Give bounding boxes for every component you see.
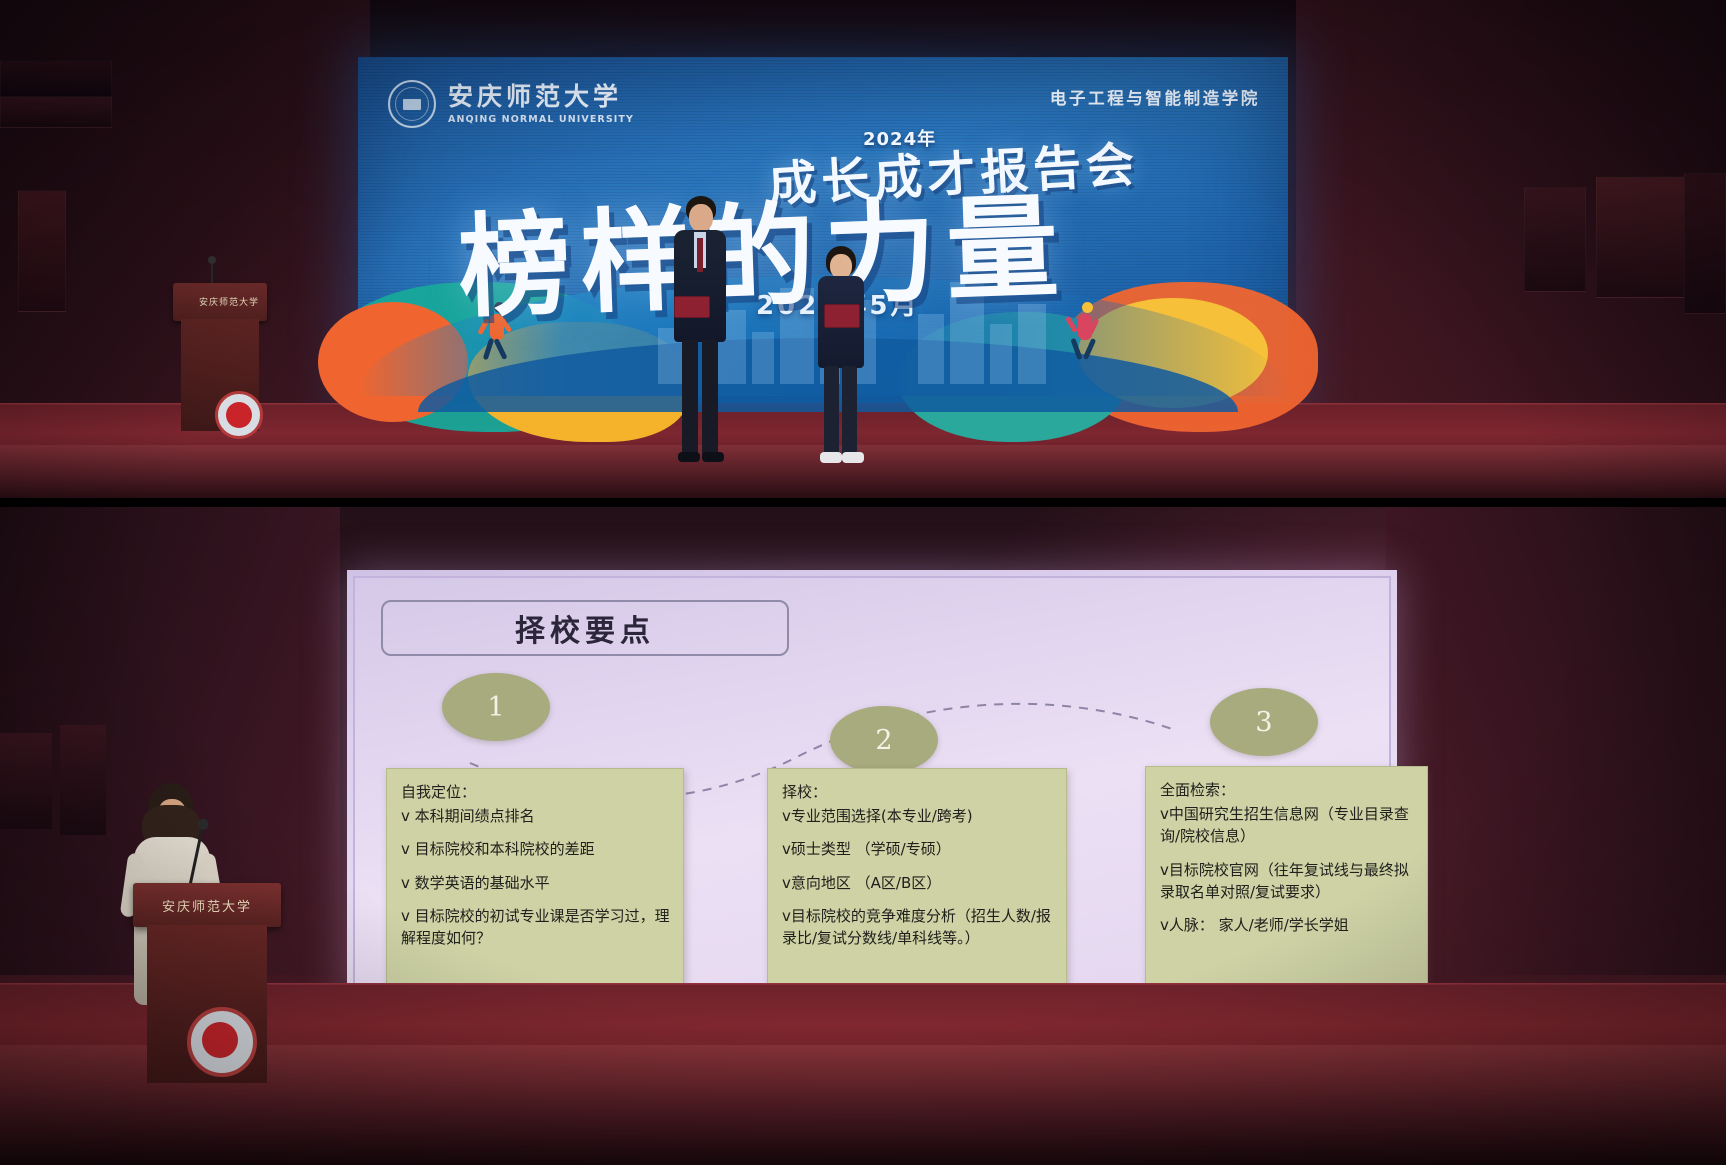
step-text-box-3: 全面检索： ⅴ中国研究生招生信息网（专业目录查询/院校信息） ⅴ目标院校官网（往… bbox=[1145, 766, 1428, 990]
auditorium-photo-pair: 安庆师范大学 ANQING NORMAL UNIVERSITY 电子工程与智能制… bbox=[0, 0, 1726, 1165]
wall-panel bbox=[1524, 186, 1586, 292]
runner-leg bbox=[483, 338, 495, 360]
wall-panel bbox=[1596, 176, 1686, 298]
presenter-tie bbox=[697, 238, 703, 272]
podium-engraving: 安庆师范大学 bbox=[145, 896, 269, 915]
banner-main-title: 榜样的力量 bbox=[455, 156, 1070, 339]
wall-panel bbox=[0, 96, 112, 128]
presenter-leg bbox=[842, 366, 857, 456]
step-text-box-1: 自我定位： ⅴ 本科期间绩点排名 ⅴ 目标院校和本科院校的差距 ⅴ 数学英语的基… bbox=[386, 768, 684, 990]
wall-panel bbox=[60, 725, 106, 835]
presenter-shoe bbox=[678, 452, 700, 462]
step-2-item: ⅴ目标院校的竞争难度分析（招生人数/报录比/复试分数线/单科线等。） bbox=[782, 905, 1054, 949]
skyline-building bbox=[918, 314, 944, 384]
projected-slide: 择校要点 1 2 3 自我定位： ⅴ 本科期间绩点排名 ⅴ 目标院校和本 bbox=[347, 570, 1397, 1002]
skyline-building bbox=[752, 332, 774, 384]
presenter-shoe bbox=[702, 452, 724, 462]
podium-engraving: 安庆师范大学 bbox=[193, 295, 265, 308]
bottom-photo-stage-with-slide: 择校要点 1 2 3 自我定位： ⅴ 本科期间绩点排名 ⅴ 目标院校和本 bbox=[0, 505, 1726, 1165]
seal-core bbox=[403, 99, 421, 110]
presenter-folder bbox=[674, 296, 710, 318]
university-name-en: ANQING NORMAL UNIVERSITY bbox=[448, 114, 634, 125]
runner-leg bbox=[493, 338, 507, 360]
step-number-circle-1: 1 bbox=[442, 673, 550, 741]
step-number-3: 3 bbox=[1255, 707, 1272, 738]
step-number-circle-2: 2 bbox=[830, 706, 938, 774]
skyline-building bbox=[990, 324, 1012, 384]
wall-panel bbox=[1684, 172, 1726, 314]
runner-leg bbox=[1083, 338, 1097, 360]
podium-body bbox=[181, 319, 259, 431]
slide-title-text: 择校要点 bbox=[515, 606, 655, 650]
podium-emblem bbox=[215, 391, 263, 439]
podium-emblem-core bbox=[226, 402, 252, 428]
podium-desktop: 安庆师范大学 bbox=[173, 283, 267, 321]
presenter-male bbox=[668, 196, 732, 476]
presenter-folder bbox=[824, 304, 860, 328]
step-2-heading: 择校： bbox=[782, 781, 1054, 803]
step-2-item: ⅴ意向地区 （A区/B区） bbox=[782, 872, 1054, 894]
runner-head bbox=[1082, 302, 1093, 313]
wall-panel bbox=[0, 733, 52, 829]
university-name-cn: 安庆师范大学 bbox=[448, 84, 634, 109]
step-number-2: 2 bbox=[875, 725, 892, 756]
presenter-shoe bbox=[842, 452, 864, 463]
presenter-leg bbox=[682, 340, 698, 456]
step-2-item: ⅴ专业范围选择(本专业/跨考) bbox=[782, 805, 1054, 827]
step-2-item: ⅴ硕士类型 （学硕/专硕） bbox=[782, 838, 1054, 860]
step-1-item: ⅴ 本科期间绩点排名 bbox=[401, 805, 671, 827]
microphone-icon bbox=[211, 261, 213, 285]
banner-year-tag: 2024年 bbox=[863, 125, 936, 151]
slide-title-box: 择校要点 bbox=[381, 600, 789, 656]
podium-body bbox=[147, 925, 267, 1083]
step-1-heading: 自我定位： bbox=[401, 781, 671, 803]
hall-wall-right bbox=[1386, 505, 1726, 975]
step-1-item: ⅴ 数学英语的基础水平 bbox=[401, 872, 671, 894]
step-text-box-2: 择校： ⅴ专业范围选择(本专业/跨考) ⅴ硕士类型 （学硕/专硕） ⅴ意向地区 … bbox=[767, 768, 1067, 990]
presenter-leg bbox=[702, 340, 718, 456]
wall-panel bbox=[0, 60, 112, 98]
step-3-heading: 全面检索： bbox=[1160, 779, 1415, 801]
presenter-female bbox=[812, 246, 870, 476]
top-photo-stage-with-banner: 安庆师范大学 ANQING NORMAL UNIVERSITY 电子工程与智能制… bbox=[0, 0, 1726, 505]
runner-arm bbox=[1065, 316, 1078, 333]
wall-panel bbox=[18, 190, 66, 312]
podium-emblem bbox=[187, 1007, 257, 1077]
step-3-item: ⅴ人脉： 家人/老师/学长学姐 bbox=[1160, 914, 1415, 936]
podium-bottom-photo: 安庆师范大学 bbox=[133, 883, 281, 1083]
university-logo-row: 安庆师范大学 ANQING NORMAL UNIVERSITY bbox=[388, 80, 634, 128]
podium-top-photo: 安庆师范大学 bbox=[165, 283, 275, 433]
step-number-1: 1 bbox=[487, 692, 504, 723]
step-1-item: ⅴ 目标院校和本科院校的差距 bbox=[401, 838, 671, 860]
runner-leg bbox=[1070, 338, 1082, 360]
step-3-item: ⅴ目标院校官网（往年复试线与最终拟录取名单对照/复试要求） bbox=[1160, 859, 1415, 903]
step-3-item: ⅴ中国研究生招生信息网（专业目录查询/院校信息） bbox=[1160, 803, 1415, 847]
university-seal-icon bbox=[388, 80, 436, 128]
podium-desktop: 安庆师范大学 bbox=[133, 883, 281, 927]
step-number-circle-3: 3 bbox=[1210, 688, 1318, 756]
presenter-head bbox=[689, 204, 713, 232]
slide-inner-frame: 择校要点 1 2 3 自我定位： ⅴ 本科期间绩点排名 ⅴ 目标院校和本 bbox=[353, 576, 1391, 996]
step-1-item: ⅴ 目标院校的初试专业课是否学习过，理解程度如何？ bbox=[401, 905, 671, 949]
podium-emblem-core bbox=[202, 1022, 238, 1058]
presenter-shoe bbox=[820, 452, 842, 463]
photo-divider bbox=[0, 498, 1726, 507]
presenter-leg bbox=[824, 366, 839, 456]
college-name: 电子工程与智能制造学院 bbox=[1050, 85, 1260, 109]
